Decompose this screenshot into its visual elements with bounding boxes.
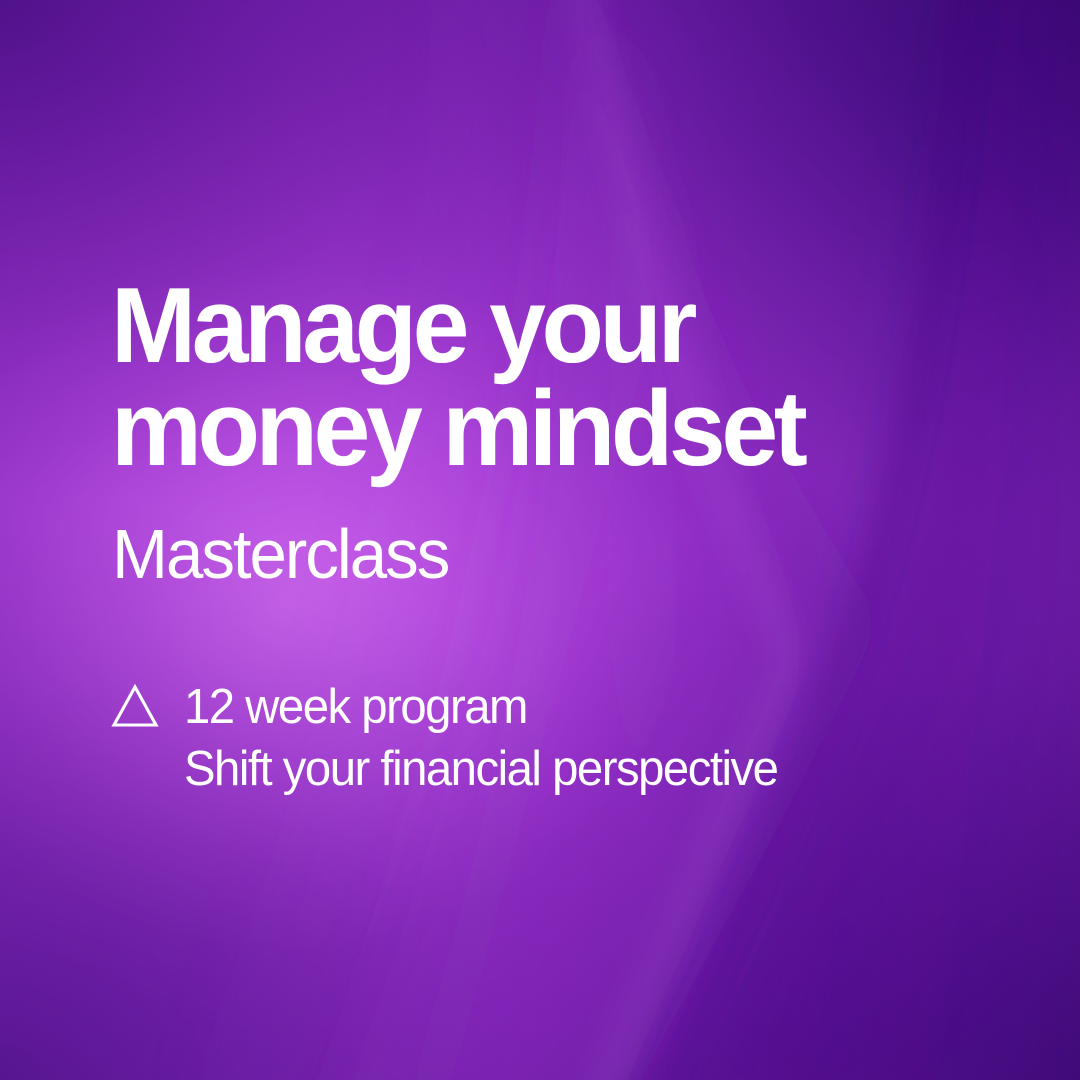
detail-line-tagline: Shift your financial perspective [184, 740, 777, 800]
promo-card: Manage your money mindset Masterclass 12… [0, 0, 1080, 1080]
triangle-outline-icon [110, 682, 160, 732]
detail-lines: 12 week program Shift your financial per… [184, 678, 799, 800]
subtitle: Masterclass [112, 519, 448, 589]
detail-line-program: 12 week program [184, 678, 777, 738]
detail-block: 12 week program Shift your financial per… [110, 678, 799, 800]
page-title: Manage your money mindset [111, 274, 803, 481]
card-content: Manage your money mindset Masterclass 12… [0, 0, 1080, 1080]
